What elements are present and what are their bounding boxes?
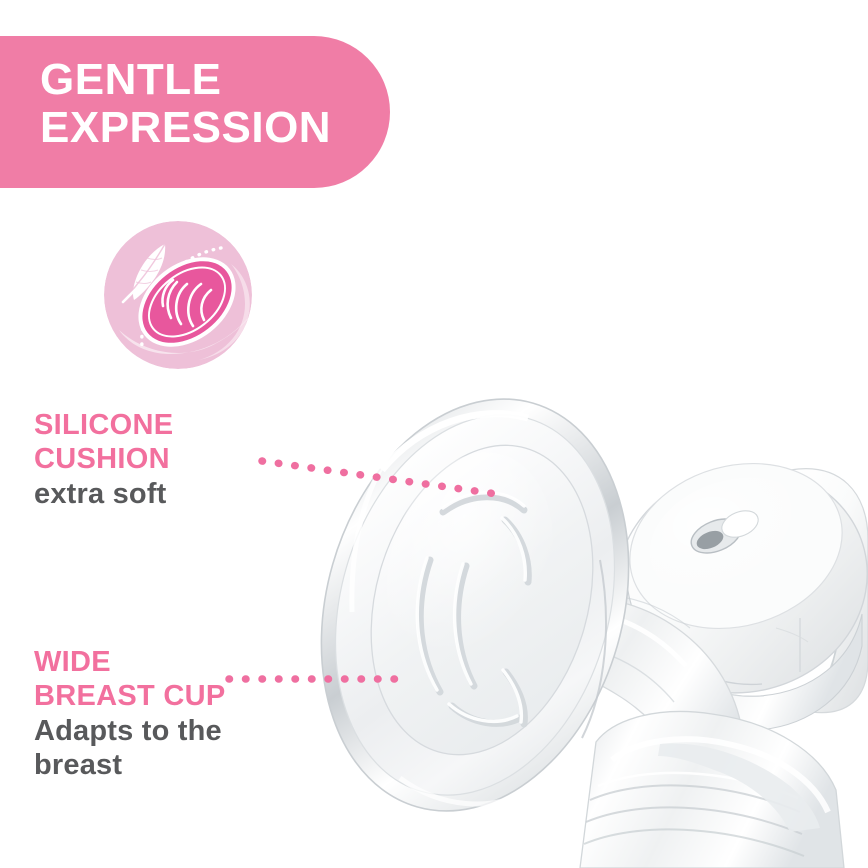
infographic-canvas: GENTLE EXPRESSION bbox=[0, 0, 868, 868]
callout-subtitle: extra soft bbox=[34, 477, 334, 511]
header-title-line1: GENTLE bbox=[40, 56, 390, 104]
callout-title: WIDE BREAST CUP bbox=[34, 645, 334, 713]
breast-shield-cushion bbox=[275, 362, 675, 847]
bottle-collar bbox=[580, 712, 844, 868]
callout-wide-breast-cup: WIDE BREAST CUP Adapts to the breast bbox=[34, 645, 334, 782]
callout-silicone-cushion: SILICONE CUSHION extra soft bbox=[34, 408, 334, 511]
callout-subtitle: Adapts to the breast bbox=[34, 714, 334, 782]
funnel-neck bbox=[524, 596, 742, 800]
silicone-cushion-icon bbox=[103, 220, 253, 370]
header-title-line2: EXPRESSION bbox=[40, 104, 390, 152]
pump-head bbox=[593, 439, 868, 730]
header-banner: GENTLE EXPRESSION bbox=[0, 36, 390, 188]
callout-title: SILICONE CUSHION bbox=[34, 408, 334, 476]
valve-opening bbox=[686, 506, 762, 560]
